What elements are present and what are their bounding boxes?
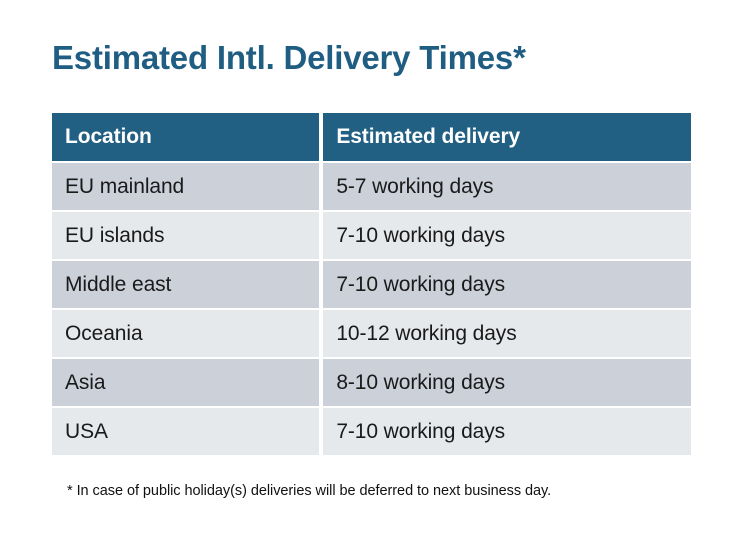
- cell-location: Asia: [52, 359, 319, 406]
- table-body: EU mainland 5-7 working days EU islands …: [52, 161, 691, 455]
- delivery-times-page: Estimated Intl. Delivery Times* Location…: [0, 0, 745, 536]
- table-row: Asia 8-10 working days: [52, 359, 691, 406]
- cell-estimated-delivery: 7-10 working days: [323, 408, 691, 455]
- cell-estimated-delivery: 8-10 working days: [323, 359, 691, 406]
- column-header-estimated-delivery: Estimated delivery: [323, 113, 691, 161]
- cell-estimated-delivery: 5-7 working days: [323, 163, 691, 210]
- cell-location: USA: [52, 408, 319, 455]
- table-row: EU islands 7-10 working days: [52, 212, 691, 259]
- cell-estimated-delivery: 7-10 working days: [323, 261, 691, 308]
- cell-location: Oceania: [52, 310, 319, 357]
- estimated-delivery-table: Location Estimated delivery EU mainland …: [52, 113, 691, 455]
- table-row: Middle east 7-10 working days: [52, 261, 691, 308]
- table-row: USA 7-10 working days: [52, 408, 691, 455]
- column-header-location: Location: [52, 113, 319, 161]
- cell-location: Middle east: [52, 261, 319, 308]
- table-row: Oceania 10-12 working days: [52, 310, 691, 357]
- table-header-row: Location Estimated delivery: [52, 113, 691, 161]
- cell-location: EU mainland: [52, 163, 319, 210]
- cell-location: EU islands: [52, 212, 319, 259]
- cell-estimated-delivery: 10-12 working days: [323, 310, 691, 357]
- cell-estimated-delivery: 7-10 working days: [323, 212, 691, 259]
- page-title: Estimated Intl. Delivery Times*: [52, 36, 526, 80]
- footnote: * In case of public holiday(s) deliverie…: [67, 481, 551, 501]
- table-head: Location Estimated delivery: [52, 113, 691, 161]
- table-row: EU mainland 5-7 working days: [52, 163, 691, 210]
